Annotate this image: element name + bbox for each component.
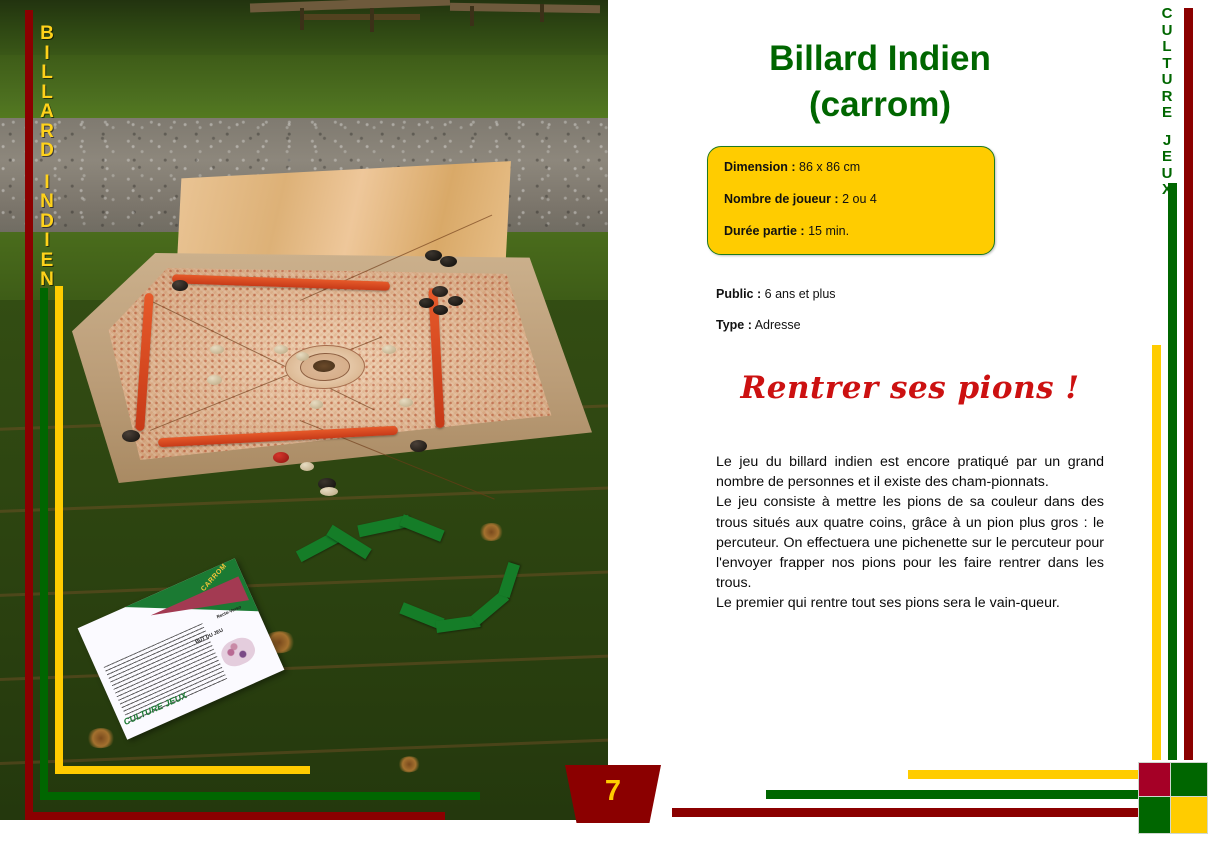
- photo-illustration: CARROM Recto-Verso BUT DU JEU CULTURE JE…: [0, 0, 608, 820]
- bottom-bar-red: [672, 808, 1140, 817]
- info-box: Dimension : 86 x 86 cm Nombre de joueur …: [707, 146, 995, 255]
- description-paragraph-2: Le jeu consiste à mettre les pions de sa…: [716, 492, 1104, 593]
- left-vertical-title: B I L L A R D I N D I E N: [32, 24, 62, 290]
- right-title-letter: R: [1152, 89, 1182, 106]
- frame-bar-yellow-horizontal: [55, 766, 310, 774]
- page-number: 7: [565, 775, 661, 808]
- corner-square-yellow: [1170, 796, 1208, 834]
- carrom-piece: [300, 462, 314, 471]
- photo-bench-leg-4: [540, 4, 544, 22]
- page-title-line-1: Billard Indien: [640, 36, 1120, 82]
- description-text: Le jeu du billard indien est encore prat…: [716, 452, 1104, 614]
- left-title-letter: I: [32, 44, 62, 64]
- carrom-piece: [419, 298, 434, 308]
- left-title-letter: E: [32, 251, 62, 271]
- right-bar-green: [1168, 183, 1177, 760]
- carrom-piece: [382, 345, 396, 354]
- info-row-players: Nombre de joueur : 2 ou 4: [724, 192, 877, 206]
- photo-bench-leg-2: [370, 8, 374, 32]
- frame-bar-green-vertical: [40, 288, 48, 800]
- right-bar-yellow: [1152, 345, 1161, 760]
- leaflet-pieces-photo: [217, 633, 259, 671]
- left-title-letter: B: [32, 24, 62, 44]
- info-label-duration: Durée partie :: [724, 224, 805, 238]
- carrom-piece: [448, 296, 463, 306]
- info-value-dimension: 86 x 86 cm: [799, 160, 860, 174]
- right-title-space: [1152, 122, 1182, 133]
- meta-label-type: Type :: [716, 318, 752, 332]
- left-title-letter: L: [32, 63, 62, 83]
- carrom-striker: [273, 452, 289, 463]
- info-label-players: Nombre de joueur :: [724, 192, 839, 206]
- right-title-letter: U: [1152, 166, 1182, 183]
- left-title-letter: I: [32, 173, 62, 193]
- right-title-letter: X: [1152, 182, 1182, 199]
- bottom-bar-yellow: [908, 770, 1140, 779]
- left-title-letter: N: [32, 270, 62, 290]
- left-title-letter: A: [32, 102, 62, 122]
- carrom-piece: [296, 352, 309, 361]
- carrom-pocket-top-left: [172, 280, 188, 291]
- left-title-letter: D: [32, 141, 62, 161]
- carrom-pocket-bottom-left: [122, 430, 140, 442]
- carrom-piece: [207, 375, 222, 385]
- photo-bench-leg-1: [300, 8, 304, 30]
- right-title-letter: E: [1152, 149, 1182, 166]
- carrom-piece: [399, 398, 413, 407]
- page-title: Billard Indien (carrom): [640, 36, 1120, 128]
- info-row-dimension: Dimension : 86 x 86 cm: [724, 160, 860, 174]
- frame-bar-green-horizontal: [40, 792, 480, 800]
- corner-square-green-1: [1170, 762, 1208, 800]
- carrom-piece: [320, 487, 338, 496]
- right-title-letter: U: [1152, 72, 1182, 89]
- carrom-piece: [274, 345, 288, 354]
- meta-value-type: Adresse: [755, 318, 801, 332]
- info-value-duration: 15 min.: [808, 224, 849, 238]
- description-paragraph-1: Le jeu du billard indien est encore prat…: [716, 452, 1104, 492]
- tagline: Rentrer ses pions !: [700, 370, 1120, 406]
- carrom-piece: [310, 400, 323, 409]
- meta-value-public: 6 ans et plus: [765, 287, 836, 301]
- photo-bench-leg-3: [470, 6, 474, 26]
- right-vertical-title: C U L T U R E J E U X: [1152, 6, 1182, 199]
- carrom-pocket-top-right: [432, 286, 448, 297]
- meta-row-type: Type : Adresse: [716, 318, 801, 332]
- frame-bar-red-horizontal: [25, 812, 445, 820]
- info-value-players: 2 ou 4: [842, 192, 877, 206]
- left-title-space: [32, 161, 62, 173]
- right-title-letter: T: [1152, 56, 1182, 73]
- left-title-letter: R: [32, 122, 62, 142]
- left-title-letter: I: [32, 231, 62, 251]
- right-title-letter: J: [1152, 133, 1182, 150]
- info-label-dimension: Dimension :: [724, 160, 796, 174]
- left-title-letter: D: [32, 212, 62, 232]
- meta-label-public: Public :: [716, 287, 761, 301]
- carrom-piece: [210, 345, 224, 354]
- carrom-pocket-bottom-right: [410, 440, 427, 452]
- frame-bar-yellow-vertical: [55, 286, 63, 774]
- right-title-letter: L: [1152, 39, 1182, 56]
- right-bar-red: [1184, 8, 1193, 760]
- right-title-letter: C: [1152, 6, 1182, 23]
- right-title-letter: E: [1152, 105, 1182, 122]
- page-root: CARROM Recto-Verso BUT DU JEU CULTURE JE…: [0, 0, 1208, 844]
- info-row-duration: Durée partie : 15 min.: [724, 224, 849, 238]
- right-title-letter: U: [1152, 23, 1182, 40]
- bottom-bar-green: [766, 790, 1140, 799]
- left-title-letter: N: [32, 192, 62, 212]
- carrom-piece: [440, 256, 457, 267]
- photo-bench-far-3: [300, 14, 420, 20]
- page-title-line-2: (carrom): [640, 82, 1120, 128]
- photo-canvas: CARROM Recto-Verso BUT DU JEU CULTURE JE…: [0, 0, 608, 820]
- meta-row-public: Public : 6 ans et plus: [716, 287, 836, 301]
- carrom-piece: [433, 305, 448, 315]
- left-title-letter: L: [32, 83, 62, 103]
- description-paragraph-3: Le premier qui rentre tout ses pions ser…: [716, 593, 1104, 613]
